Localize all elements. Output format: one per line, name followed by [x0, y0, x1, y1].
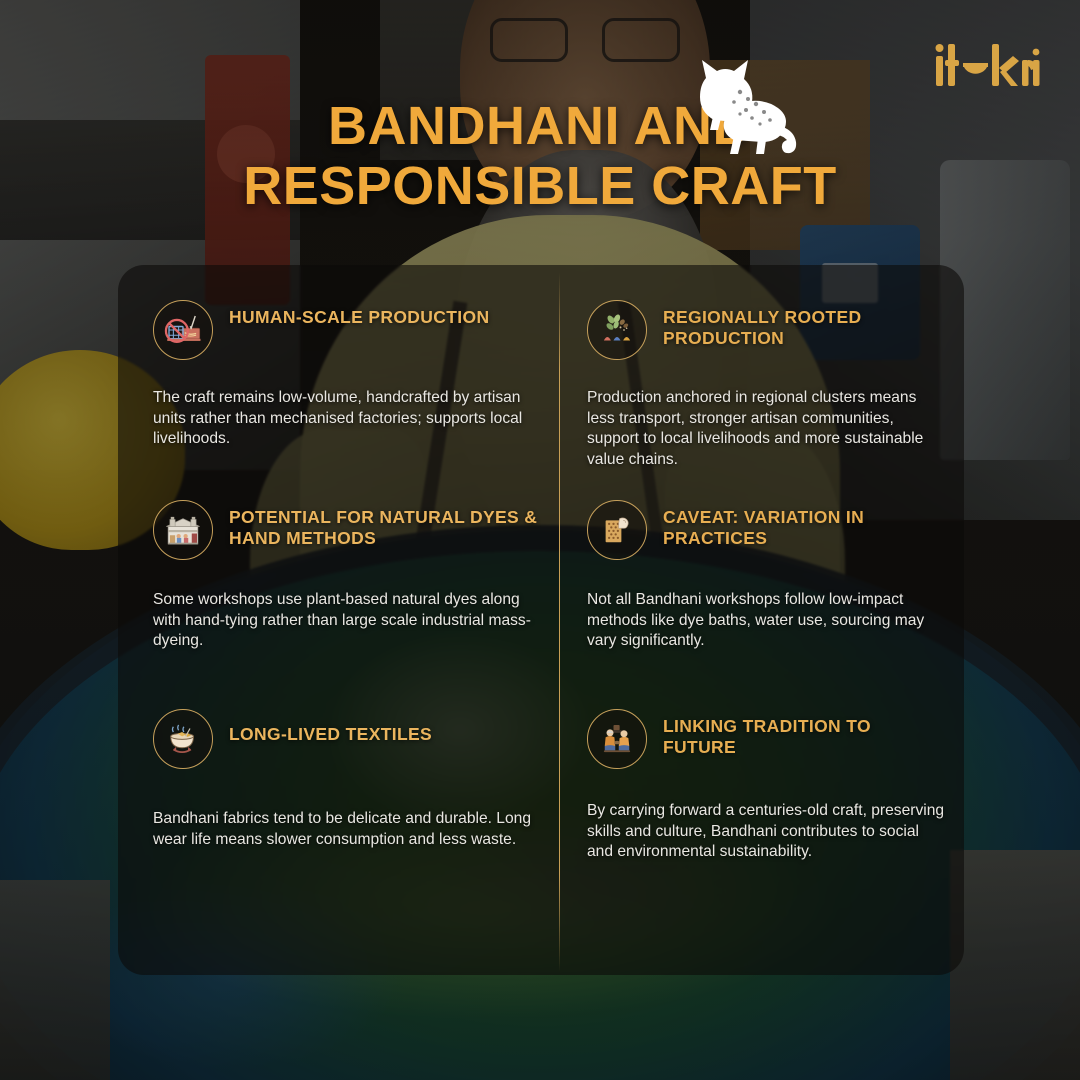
page-title: BANDHANI AND RESPONSIBLE CRAFT	[0, 96, 1080, 217]
no-factory-machine-icon	[153, 300, 213, 360]
card-header: LONG-LIVED TEXTILES	[153, 709, 541, 769]
card-body: Not all Bandhani workshops follow low-im…	[587, 590, 946, 652]
card-title: CAVEAT: VARIATION IN PRACTICES	[663, 500, 946, 550]
card-natural-dyes-hand-methods: POTENTIAL FOR NATURAL DYES & HAND METHOD…	[118, 500, 559, 709]
card-title: REGIONALLY ROOTED PRODUCTION	[663, 300, 946, 350]
card-title: LONG-LIVED TEXTILES	[229, 709, 432, 745]
card-human-scale-production: HUMAN-SCALE PRODUCTION The craft remains…	[118, 300, 559, 500]
card-body: Some workshops use plant-based natural d…	[153, 590, 541, 652]
hand-holding-fabric-swatch-icon	[587, 500, 647, 560]
card-caveat-variation-in-practices: CAVEAT: VARIATION IN PRACTICES Not all B…	[559, 500, 964, 709]
craft-workshop-building-icon	[153, 500, 213, 560]
card-regionally-rooted-production: REGIONALLY ROOTED PRODUCTION Production …	[559, 300, 964, 500]
card-body: Bandhani fabrics tend to be delicate and…	[153, 809, 541, 850]
card-header: POTENTIAL FOR NATURAL DYES & HAND METHOD…	[153, 500, 541, 560]
card-header: CAVEAT: VARIATION IN PRACTICES	[587, 500, 946, 560]
cat-icon	[684, 52, 804, 157]
card-header: HUMAN-SCALE PRODUCTION	[153, 300, 541, 360]
card-body: By carrying forward a centuries-old craf…	[587, 801, 946, 863]
card-title: LINKING TRADITION TO FUTURE	[663, 709, 946, 759]
card-long-lived-textiles: LONG-LIVED TEXTILES Bandhani fabrics ten…	[118, 709, 559, 954]
brand-logo[interactable]	[934, 40, 1042, 90]
page-title-line2: RESPONSIBLE CRAFT	[0, 156, 1080, 216]
natural-dye-plants-icon	[587, 300, 647, 360]
card-header: REGIONALLY ROOTED PRODUCTION	[587, 300, 946, 360]
card-linking-tradition-to-future: LINKING TRADITION TO FUTURE By carrying …	[559, 709, 964, 954]
header: BANDHANI AND RESPONSIBLE CRAFT	[0, 0, 1080, 265]
card-title: HUMAN-SCALE PRODUCTION	[229, 300, 489, 328]
two-artisans-icon	[587, 709, 647, 769]
card-header: LINKING TRADITION TO FUTURE	[587, 709, 946, 769]
card-title: POTENTIAL FOR NATURAL DYES & HAND METHOD…	[229, 500, 541, 550]
card-body: The craft remains low-volume, handcrafte…	[153, 388, 541, 450]
cards-grid: HUMAN-SCALE PRODUCTION The craft remains…	[118, 265, 964, 975]
dye-pot-recycle-icon	[153, 709, 213, 769]
card-body: Production anchored in regional clusters…	[587, 388, 946, 471]
